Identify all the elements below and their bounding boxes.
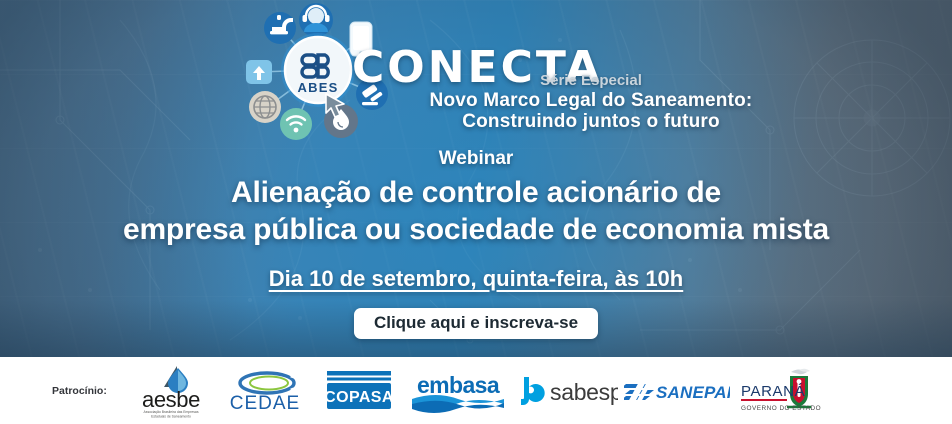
series-title-line1: Novo Marco Legal do Saneamento: (361, 90, 821, 111)
svg-text:aesbe: aesbe (142, 387, 200, 412)
sponsor-logo-sabesp[interactable]: sabesp (511, 371, 621, 411)
event-date[interactable]: Dia 10 de setembro, quinta-feira, às 10h (0, 266, 952, 292)
page-title-line2: empresa pública ou sociedade de economia… (0, 211, 952, 248)
sponsor-logo-embasa[interactable]: embasa (405, 369, 511, 413)
page-title: Alienação de controle acionário de empre… (0, 174, 952, 248)
svg-text:COPASA: COPASA (324, 389, 394, 406)
abes-logo-disc: ABES (281, 33, 355, 107)
sponsor-logo-copasa[interactable]: COPASA (313, 368, 405, 414)
headset-support-icon (299, 3, 333, 37)
sponsor-logo-sanepar[interactable]: SANEPAR (621, 374, 733, 408)
sponsor-logo-cedae[interactable]: CEDAE (217, 369, 313, 413)
svg-text:GOVERNO DO ESTADO: GOVERNO DO ESTADO (741, 405, 821, 412)
wifi-icon (280, 108, 312, 140)
sanepar-flow-mark (624, 380, 654, 402)
sponsor-label: Patrocínio: (52, 385, 107, 397)
svg-text:PARANÁ: PARANÁ (741, 383, 805, 400)
sponsor-logo-aesbe[interactable]: aesbe Associação Brasileira das Empresas… (125, 363, 217, 419)
series-kicker: Série Especial (411, 72, 771, 89)
sponsor-logo-parana[interactable]: PARANÁ GOVERNO DO ESTADO (733, 366, 833, 416)
svg-text:sabesp: sabesp (550, 379, 618, 405)
series-title: Novo Marco Legal do Saneamento: Construi… (361, 90, 821, 132)
svg-text:ABES: ABES (298, 80, 339, 95)
svg-text:Associação Brasileira das Empr: Associação Brasileira das Empresas (143, 410, 198, 414)
faucet-icon (264, 12, 296, 44)
webinar-banner: ABES CONECTA Série Especial Novo Marco L… (0, 0, 952, 424)
series-title-line2: Construindo juntos o futuro (361, 111, 821, 132)
sabesp-mark (521, 377, 545, 405)
event-type-label: Webinar (0, 148, 952, 170)
cedae-swoosh-mark (240, 373, 302, 393)
page-title-line1: Alienação de controle acionário de (0, 174, 952, 211)
svg-text:CEDAE: CEDAE (230, 393, 300, 413)
svg-text:Estaduais de Saneamento: Estaduais de Saneamento (151, 414, 191, 418)
sponsor-logos: aesbe Associação Brasileira das Empresas… (125, 363, 833, 419)
upload-arrow-icon (246, 60, 272, 84)
svg-text:embasa: embasa (417, 372, 500, 398)
sponsor-bar: Patrocínio: aesbe Associação Brasileira … (0, 357, 952, 424)
svg-text:SANEPAR: SANEPAR (656, 383, 730, 402)
cta-container: Clique aqui e inscreva-se (0, 308, 952, 339)
register-button[interactable]: Clique aqui e inscreva-se (354, 308, 598, 339)
globe-icon (249, 91, 281, 123)
